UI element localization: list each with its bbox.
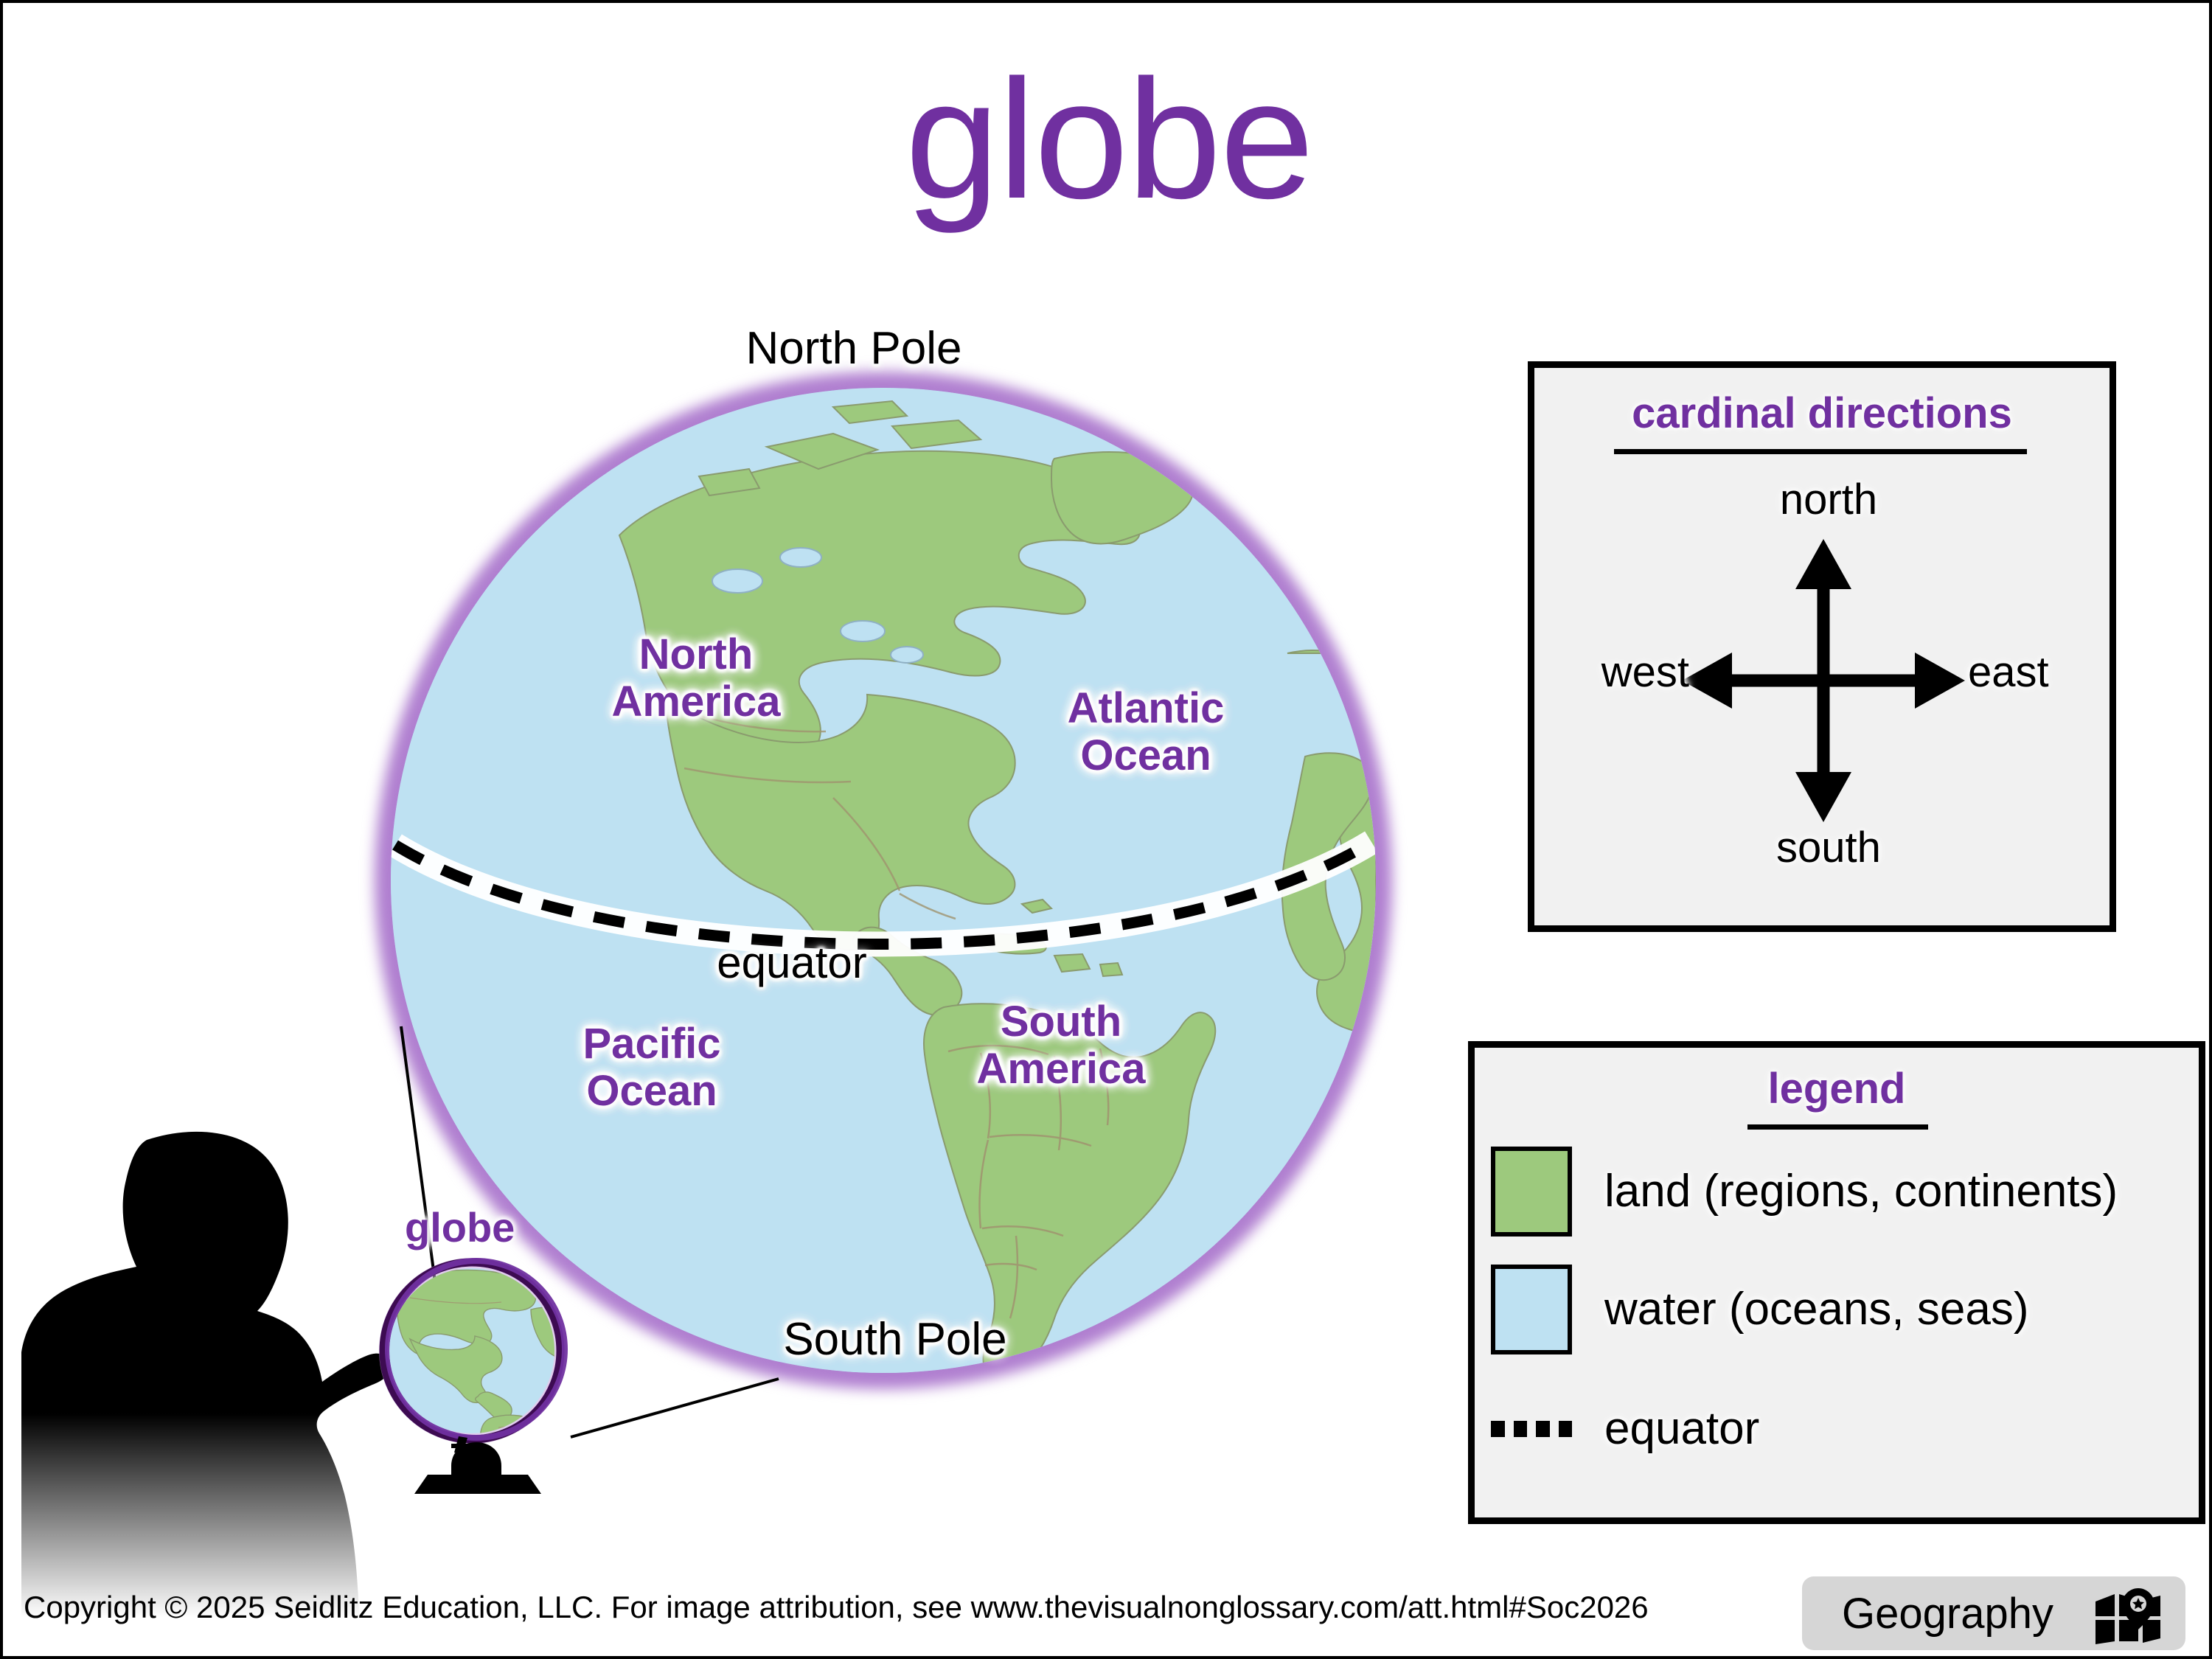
cardinal-label-east: east [1968,650,2115,695]
legend-title: legend [1475,1064,2199,1113]
cardinal-directions-title: cardinal directions [1534,389,2110,438]
copyright-notice: Copyright © 2025 Seidlitz Education, LLC… [24,1590,1649,1625]
poster-page: globe [0,0,2212,1659]
legend-item-water: water (oceans, seas) [1491,1269,2191,1350]
legend-swatch-land [1491,1147,1572,1237]
cardinal-label-south: south [1681,825,1976,871]
legend-swatch-equator [1491,1421,1572,1437]
cardinal-label-north: north [1681,477,1976,523]
legend-label-land: land (regions, continents) [1604,1167,2118,1216]
legend-item-land: land (regions, continents) [1491,1151,2191,1232]
map-pin-icon [2093,1587,2163,1646]
subject-badge: Geography [1802,1576,2185,1650]
cardinal-label-west: west [1542,650,1689,695]
legend-label-water: water (oceans, seas) [1604,1285,2028,1334]
cardinal-directions-panel: cardinal directions north south west eas… [1528,361,2116,932]
desk-globe-label: globe [405,1203,515,1251]
legend-panel: legend land (regions, continents) water … [1468,1041,2205,1524]
legend-title-underline [1747,1124,1928,1130]
legend-label-equator: equator [1604,1405,1759,1453]
legend-swatch-water [1491,1265,1572,1354]
legend-item-equator: equator [1491,1388,2191,1470]
subject-badge-label: Geography [1842,1589,2053,1638]
desk-globe [364,1256,585,1500]
cardinal-title-underline [1614,449,2027,454]
compass-rose-icon [1669,526,1978,835]
